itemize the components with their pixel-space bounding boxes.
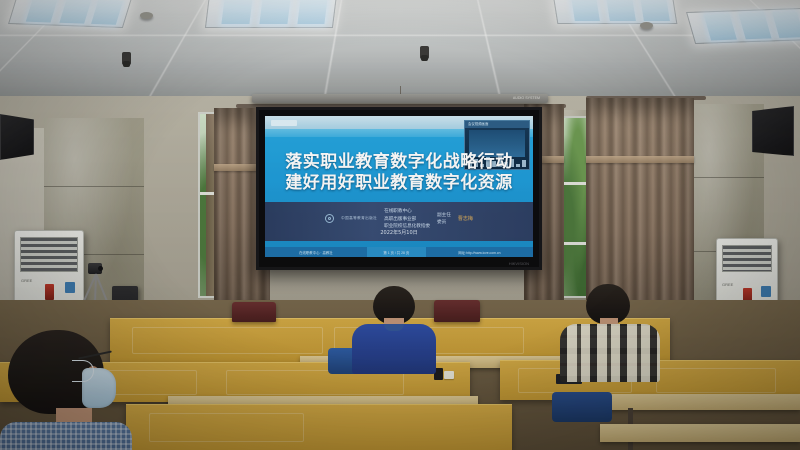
person-foreground-left <box>0 330 150 450</box>
ceiling-camera-icon <box>122 52 131 65</box>
soundbar-label: AUDIO SYSTEM <box>513 96 540 100</box>
role-2: 委员 <box>437 219 451 225</box>
slide-canvas[interactable]: 会议视频画面 落实职业教育数字化战略行动 建好用好职业教育数字化资源 <box>265 116 533 257</box>
ac-vent-grille <box>722 245 772 272</box>
slide-taskbar[interactable]: 在线职教中心 · 高教社 第 1 页 / 共 28 页 网址:http://ww… <box>265 247 533 257</box>
publisher-name: 中国高等教育出版社 <box>341 216 377 221</box>
person-torso <box>0 422 132 450</box>
presentation-display[interactable]: 会议视频画面 落实职业教育数字化战略行动 建好用好职业教育数字化资源 <box>256 107 542 270</box>
desk-row-front-panel <box>126 404 512 450</box>
video-thumbnail-caption: 会议视频画面 <box>465 121 529 128</box>
org-line-2: 高职出版事业部 <box>384 216 430 222</box>
speaker-name: 曹志梅 <box>458 215 473 222</box>
ac-energy-label <box>761 286 771 297</box>
role-1: 副主任 <box>437 212 451 218</box>
taskbar-page-indicator: 第 1 页 / 共 28 页 <box>367 247 426 257</box>
chair-right-audience <box>552 392 612 422</box>
conference-room-photo: GREE GREE AUDIO SYSTEM 会议视频画面 <box>0 0 800 450</box>
mask-strap <box>72 360 94 382</box>
slide-title-line-1: 落实职业教育数字化战略行动 <box>265 152 533 173</box>
publisher-logo-icon <box>325 214 334 223</box>
curtain-tieband <box>586 156 694 163</box>
person-torso <box>352 324 436 374</box>
paper-on-desk <box>444 371 454 379</box>
org-line-1: 在线职教中心 <box>384 208 430 214</box>
slide-date: 2022年5月10日 <box>265 229 533 236</box>
taskbar-url-text: 网址:http://www.icve.com.cn <box>426 247 533 257</box>
wall-speaker-left <box>0 114 34 160</box>
person-torso <box>560 324 660 382</box>
video-thumbnail-titlebar: 会议视频画面 <box>465 121 529 128</box>
camera-on-tripod-icon <box>88 263 102 274</box>
slide-top-tab <box>271 120 297 126</box>
wall-speaker-right <box>752 106 794 156</box>
shirt-collar <box>384 324 404 331</box>
taskbar-left-text: 在线职教中心 · 高教社 <box>265 247 367 257</box>
org-lines: 在线职教中心 高职出版事业部 职业院校信息化教指委 <box>384 208 430 229</box>
slide-credits: 中国高等教育出版社 在线职教中心 高职出版事业部 职业院校信息化教指委 副主任 … <box>265 208 533 229</box>
role-lines: 副主任 委员 <box>437 212 451 226</box>
chair-back-right <box>434 300 480 322</box>
slide-footer-band: 中国高等教育出版社 在线职教中心 高职出版事业部 职业院校信息化教指委 副主任 … <box>265 202 533 241</box>
slide-title: 落实职业教育数字化战略行动 建好用好职业教育数字化资源 <box>265 152 533 194</box>
smoke-detector-icon <box>140 12 153 19</box>
ac-warning-label <box>45 284 54 300</box>
smoke-detector-icon <box>640 22 653 29</box>
slide-title-line-2: 建好用好职业教育数字化资源 <box>265 173 533 194</box>
chair-back-left <box>232 302 276 322</box>
ac-vent-grille <box>20 237 77 272</box>
person-right <box>560 284 660 380</box>
person-center <box>352 286 436 372</box>
desk-row-front-right-top <box>600 424 800 442</box>
display-brand-logo: HIKVISION <box>509 261 529 266</box>
soundbar: AUDIO SYSTEM <box>252 94 548 103</box>
ac-energy-label <box>65 282 75 293</box>
ceiling-camera-icon <box>420 46 429 59</box>
